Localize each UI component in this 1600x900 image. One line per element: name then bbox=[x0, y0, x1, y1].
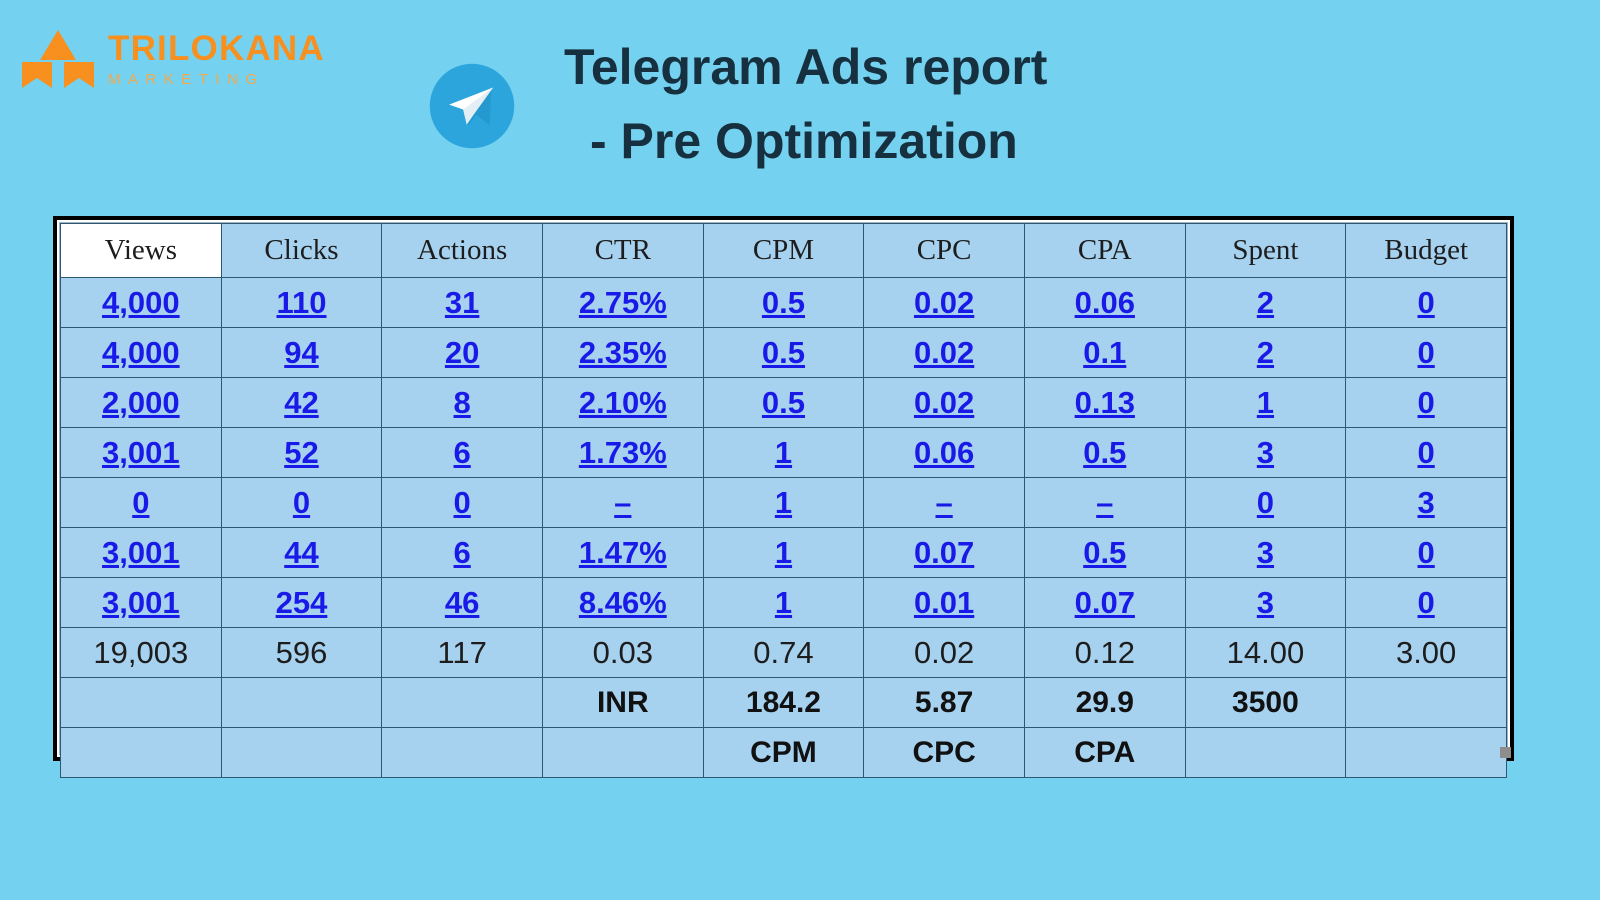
brand-logo: TRILOKANA MARKETING bbox=[18, 28, 325, 90]
currency-cell-views bbox=[61, 678, 222, 728]
total-cell-views: 19,003 bbox=[61, 628, 222, 678]
telegram-paper-plane-icon bbox=[428, 62, 516, 150]
page-title-line1: Telegram Ads report bbox=[560, 30, 1320, 104]
cell-cpa[interactable]: 0.13 bbox=[1024, 378, 1185, 428]
cell-clicks[interactable]: 42 bbox=[221, 378, 382, 428]
brand-wordmark: TRILOKANA MARKETING bbox=[108, 31, 325, 87]
page-title-line2: - Pre Optimization bbox=[560, 104, 1320, 178]
currency-cell-cpa: 29.9 bbox=[1024, 678, 1185, 728]
cell-cpc[interactable]: 0.07 bbox=[864, 528, 1025, 578]
column-header-cpc[interactable]: CPC bbox=[864, 224, 1025, 278]
cell-views[interactable]: 4,000 bbox=[61, 328, 222, 378]
page-title: Telegram Ads report - Pre Optimization bbox=[560, 30, 1320, 178]
resize-handle[interactable] bbox=[1500, 747, 1511, 758]
cell-clicks[interactable]: 52 bbox=[221, 428, 382, 478]
cell-cpa[interactable]: – bbox=[1024, 478, 1185, 528]
cell-cpc[interactable]: 0.02 bbox=[864, 328, 1025, 378]
cell-spent[interactable]: 0 bbox=[1185, 478, 1346, 528]
metric-label-cell-views bbox=[61, 728, 222, 778]
table-row: 4,000110312.75%0.50.020.0620 bbox=[61, 278, 1507, 328]
cell-cpa[interactable]: 0.07 bbox=[1024, 578, 1185, 628]
column-header-actions[interactable]: Actions bbox=[382, 224, 543, 278]
cell-actions[interactable]: 8 bbox=[382, 378, 543, 428]
cell-cpm[interactable]: 1 bbox=[703, 528, 864, 578]
metric-label-cell-budget bbox=[1346, 728, 1507, 778]
cell-spent[interactable]: 3 bbox=[1185, 578, 1346, 628]
cell-cpa[interactable]: 0.06 bbox=[1024, 278, 1185, 328]
table-header-row: ViewsClicksActionsCTRCPMCPCCPASpentBudge… bbox=[61, 224, 1507, 278]
cell-cpm[interactable]: 1 bbox=[703, 478, 864, 528]
cell-actions[interactable]: 6 bbox=[382, 528, 543, 578]
column-header-cpm[interactable]: CPM bbox=[703, 224, 864, 278]
spreadsheet-inner: ViewsClicksActionsCTRCPMCPCCPASpentBudge… bbox=[59, 222, 1508, 755]
table-body: 4,000110312.75%0.50.020.06204,00094202.3… bbox=[61, 278, 1507, 778]
cell-views[interactable]: 0 bbox=[61, 478, 222, 528]
cell-clicks[interactable]: 44 bbox=[221, 528, 382, 578]
cell-spent[interactable]: 3 bbox=[1185, 428, 1346, 478]
cell-actions[interactable]: 46 bbox=[382, 578, 543, 628]
cell-ctr[interactable]: 1.47% bbox=[542, 528, 703, 578]
cell-views[interactable]: 3,001 bbox=[61, 528, 222, 578]
brand-subtitle: MARKETING bbox=[108, 72, 325, 87]
total-cell-ctr: 0.03 bbox=[542, 628, 703, 678]
cell-cpa[interactable]: 0.5 bbox=[1024, 428, 1185, 478]
cell-actions[interactable]: 0 bbox=[382, 478, 543, 528]
cell-ctr[interactable]: 1.73% bbox=[542, 428, 703, 478]
cell-budget[interactable]: 3 bbox=[1346, 478, 1507, 528]
table-row: 3,0014461.47%10.070.530 bbox=[61, 528, 1507, 578]
currency-cell-cpm: 184.2 bbox=[703, 678, 864, 728]
cell-cpc[interactable]: 0.02 bbox=[864, 278, 1025, 328]
cell-views[interactable]: 3,001 bbox=[61, 428, 222, 478]
cell-budget[interactable]: 0 bbox=[1346, 378, 1507, 428]
table-row: 4,00094202.35%0.50.020.120 bbox=[61, 328, 1507, 378]
cell-cpc[interactable]: 0.06 bbox=[864, 428, 1025, 478]
metric-label-cell-actions bbox=[382, 728, 543, 778]
cell-budget[interactable]: 0 bbox=[1346, 428, 1507, 478]
cell-ctr[interactable]: 8.46% bbox=[542, 578, 703, 628]
cell-spent[interactable]: 1 bbox=[1185, 378, 1346, 428]
cell-clicks[interactable]: 94 bbox=[221, 328, 382, 378]
cell-cpc[interactable]: – bbox=[864, 478, 1025, 528]
table-row: 2,0004282.10%0.50.020.1310 bbox=[61, 378, 1507, 428]
spreadsheet-frame: ViewsClicksActionsCTRCPMCPCCPASpentBudge… bbox=[53, 216, 1514, 761]
currency-cell-spent: 3500 bbox=[1185, 678, 1346, 728]
cell-actions[interactable]: 6 bbox=[382, 428, 543, 478]
cell-cpm[interactable]: 0.5 bbox=[703, 278, 864, 328]
cell-cpa[interactable]: 0.5 bbox=[1024, 528, 1185, 578]
currency-cell-actions bbox=[382, 678, 543, 728]
cell-budget[interactable]: 0 bbox=[1346, 328, 1507, 378]
currency-cell-budget bbox=[1346, 678, 1507, 728]
currency-cell-cpc: 5.87 bbox=[864, 678, 1025, 728]
cell-budget[interactable]: 0 bbox=[1346, 528, 1507, 578]
trilokana-arrow-logo-icon bbox=[18, 28, 98, 90]
cell-views[interactable]: 2,000 bbox=[61, 378, 222, 428]
brand-name: TRILOKANA bbox=[108, 31, 325, 66]
totals-row: 19,0035961170.030.740.020.1214.003.00 bbox=[61, 628, 1507, 678]
cell-ctr[interactable]: 2.35% bbox=[542, 328, 703, 378]
total-cell-cpc: 0.02 bbox=[864, 628, 1025, 678]
cell-cpm[interactable]: 0.5 bbox=[703, 328, 864, 378]
cell-budget[interactable]: 0 bbox=[1346, 278, 1507, 328]
column-header-spent[interactable]: Spent bbox=[1185, 224, 1346, 278]
column-header-clicks[interactable]: Clicks bbox=[221, 224, 382, 278]
cell-cpm[interactable]: 0.5 bbox=[703, 378, 864, 428]
metric-label-cell-spent bbox=[1185, 728, 1346, 778]
total-cell-spent: 14.00 bbox=[1185, 628, 1346, 678]
metric-label-cell-cpc: CPC bbox=[864, 728, 1025, 778]
cell-cpc[interactable]: 0.02 bbox=[864, 378, 1025, 428]
cell-spent[interactable]: 2 bbox=[1185, 278, 1346, 328]
column-header-budget[interactable]: Budget bbox=[1346, 224, 1507, 278]
cell-spent[interactable]: 3 bbox=[1185, 528, 1346, 578]
metric-label-cell-cpa: CPA bbox=[1024, 728, 1185, 778]
table-header: ViewsClicksActionsCTRCPMCPCCPASpentBudge… bbox=[61, 224, 1507, 278]
metric-label-cell-clicks bbox=[221, 728, 382, 778]
total-cell-cpm: 0.74 bbox=[703, 628, 864, 678]
column-header-views[interactable]: Views bbox=[61, 224, 222, 278]
cell-views[interactable]: 3,001 bbox=[61, 578, 222, 628]
column-header-ctr[interactable]: CTR bbox=[542, 224, 703, 278]
cell-ctr[interactable]: 2.75% bbox=[542, 278, 703, 328]
total-cell-actions: 117 bbox=[382, 628, 543, 678]
cell-views[interactable]: 4,000 bbox=[61, 278, 222, 328]
cell-cpm[interactable]: 1 bbox=[703, 578, 864, 628]
cell-cpa[interactable]: 0.1 bbox=[1024, 328, 1185, 378]
cell-budget[interactable]: 0 bbox=[1346, 578, 1507, 628]
metric-label-row: CPMCPCCPA bbox=[61, 728, 1507, 778]
cell-clicks[interactable]: 0 bbox=[221, 478, 382, 528]
cell-spent[interactable]: 2 bbox=[1185, 328, 1346, 378]
total-cell-cpa: 0.12 bbox=[1024, 628, 1185, 678]
metric-label-cell-cpm: CPM bbox=[703, 728, 864, 778]
cell-actions[interactable]: 31 bbox=[382, 278, 543, 328]
currency-cell-clicks bbox=[221, 678, 382, 728]
currency-row: INR184.25.8729.93500 bbox=[61, 678, 1507, 728]
table-row: 3,0015261.73%10.060.530 bbox=[61, 428, 1507, 478]
total-cell-clicks: 596 bbox=[221, 628, 382, 678]
table-row: 000–1––03 bbox=[61, 478, 1507, 528]
cell-ctr[interactable]: 2.10% bbox=[542, 378, 703, 428]
metric-label-cell-ctr bbox=[542, 728, 703, 778]
currency-cell-ctr: INR bbox=[542, 678, 703, 728]
cell-cpm[interactable]: 1 bbox=[703, 428, 864, 478]
cell-cpc[interactable]: 0.01 bbox=[864, 578, 1025, 628]
total-cell-budget: 3.00 bbox=[1346, 628, 1507, 678]
cell-ctr[interactable]: – bbox=[542, 478, 703, 528]
table-row: 3,001254468.46%10.010.0730 bbox=[61, 578, 1507, 628]
ads-report-table: ViewsClicksActionsCTRCPMCPCCPASpentBudge… bbox=[60, 223, 1507, 778]
column-header-cpa[interactable]: CPA bbox=[1024, 224, 1185, 278]
cell-clicks[interactable]: 254 bbox=[221, 578, 382, 628]
cell-clicks[interactable]: 110 bbox=[221, 278, 382, 328]
cell-actions[interactable]: 20 bbox=[382, 328, 543, 378]
